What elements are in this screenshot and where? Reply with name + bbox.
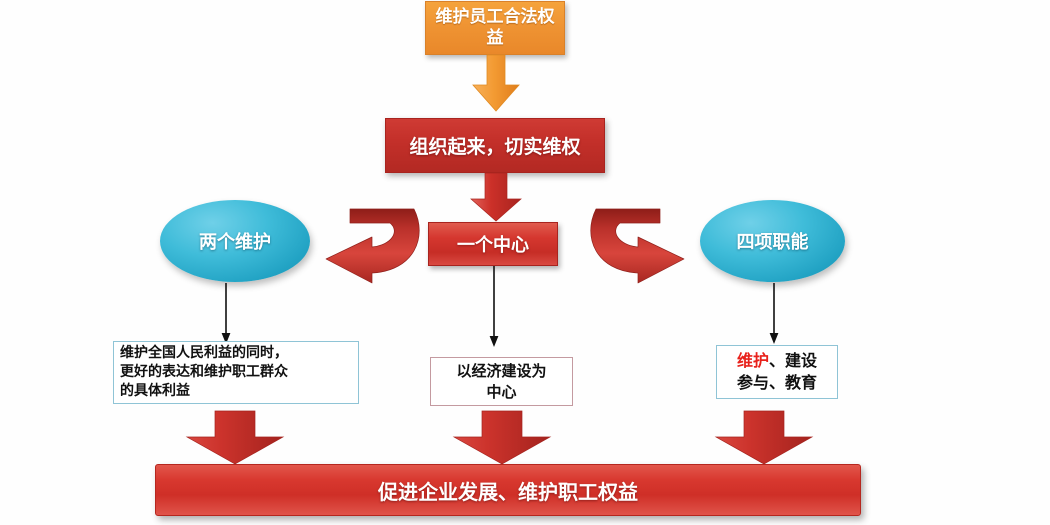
left-ellipse-label: 两个维护 bbox=[199, 228, 271, 254]
red-curved-arrow-right bbox=[588, 203, 700, 285]
strategy-box: 组织起来，切实维权 bbox=[385, 118, 605, 173]
red-down-arrow bbox=[466, 173, 526, 223]
left-detail-box: 维护全国人民利益的同时， 更好的表达和维护职工群众 的具体利益 bbox=[113, 341, 359, 404]
red-curved-arrow-left bbox=[310, 203, 422, 285]
banner-arrow-center bbox=[450, 411, 554, 466]
left-detail-line-1: 维护全国人民利益的同时， bbox=[120, 344, 288, 363]
banner-arrow-left bbox=[183, 411, 287, 466]
center-box-label: 一个中心 bbox=[457, 231, 529, 257]
orange-down-arrow bbox=[467, 55, 525, 113]
right-connector-arrow bbox=[767, 283, 781, 345]
center-box: 一个中心 bbox=[428, 222, 558, 266]
right-detail-rest: 、建设 bbox=[769, 351, 817, 370]
banner-arrow-right bbox=[712, 411, 816, 466]
strategy-box-label: 组织起来，切实维权 bbox=[409, 132, 580, 159]
right-detail-highlight: 维护 bbox=[737, 351, 769, 370]
right-ellipse: 四项职能 bbox=[700, 200, 845, 282]
flowchart-canvas: 维护员工合法权益 组织起来，切实维权 bbox=[0, 0, 1050, 525]
left-connector-arrow bbox=[219, 283, 233, 345]
right-detail-line-2: 参与、教育 bbox=[737, 372, 817, 394]
title-box: 维护员工合法权益 bbox=[425, 1, 565, 55]
right-detail-box: 维护、建设 参与、教育 bbox=[716, 345, 838, 399]
title-box-label: 维护员工合法权益 bbox=[432, 7, 558, 50]
bottom-banner-label: 促进企业发展、维护职工权益 bbox=[378, 476, 638, 505]
center-detail-box: 以经济建设为 中心 bbox=[430, 357, 573, 406]
left-ellipse: 两个维护 bbox=[160, 200, 310, 282]
right-ellipse-label: 四项职能 bbox=[737, 228, 809, 254]
left-detail-line-3: 的具体利益 bbox=[120, 382, 190, 401]
right-detail-line-1: 维护、建设 bbox=[737, 350, 817, 372]
center-detail-line-1: 以经济建设为 bbox=[456, 361, 546, 381]
left-detail-line-2: 更好的表达和维护职工群众 bbox=[120, 363, 288, 382]
center-connector-arrow bbox=[487, 266, 501, 348]
center-detail-line-2: 中心 bbox=[486, 382, 516, 402]
bottom-banner: 促进企业发展、维护职工权益 bbox=[155, 464, 861, 516]
